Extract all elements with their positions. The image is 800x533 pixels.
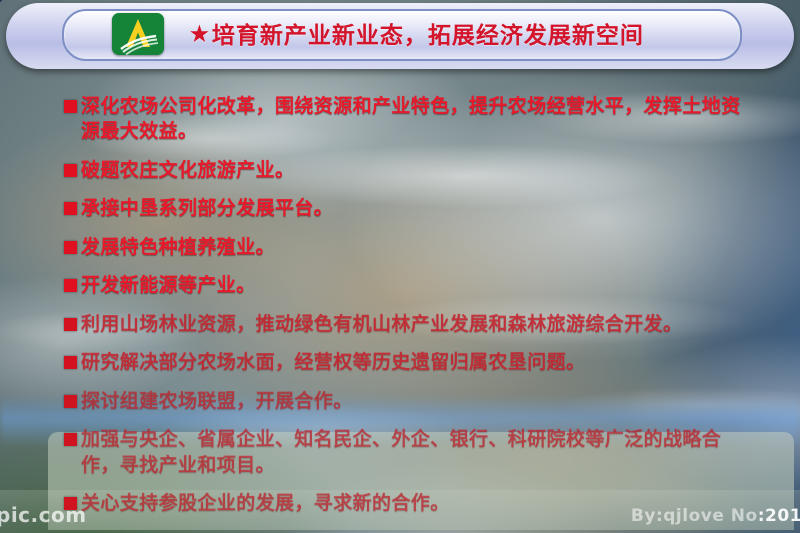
star-icon: ★ [190, 21, 210, 46]
slide-title-text: 培育新产业新业态，拓展经济发展新空间 [212, 16, 644, 50]
bullet-marker-icon [64, 279, 77, 292]
bullet-marker-icon [64, 241, 77, 254]
bullet-text: 深化农场公司化改革，围绕资源和产业特色，提升农场经营水平，发挥土地资源最大效益。 [81, 94, 754, 145]
bullet-text: 加强与央企、省属企业、知名民企、外企、银行、科研院校等广泛的战略合作，寻找产业和… [81, 427, 754, 478]
bullet-marker-icon [64, 318, 77, 331]
bullet-marker-icon [64, 433, 77, 446]
list-item: 关心支持参股企业的发展，寻求新的合作。 [64, 491, 754, 516]
bullet-text: 破题农庄文化旅游产业。 [81, 158, 294, 183]
bullet-text: 利用山场林业资源，推动绿色有机山林产业发展和森林旅游综合开发。 [81, 312, 682, 337]
list-item: 利用山场林业资源，推动绿色有机山林产业发展和森林旅游综合开发。 [64, 312, 754, 337]
bullet-text: 探讨组建农场联盟，开展合作。 [81, 389, 353, 414]
bullet-text: 关心支持参股企业的发展，寻求新的合作。 [81, 491, 450, 516]
bullet-marker-icon [64, 202, 77, 215]
bullet-text: 开发新能源等产业。 [81, 273, 256, 298]
list-item: 开发新能源等产业。 [64, 273, 754, 298]
bullet-text: 研究解决部分农场水面，经营权等历史遗留归属农垦问题。 [81, 350, 585, 375]
list-item: 破题农庄文化旅游产业。 [64, 158, 754, 183]
list-item: 发展特色种植养殖业。 [64, 235, 754, 260]
list-item: 研究解决部分农场水面，经营权等历史遗留归属农垦问题。 [64, 350, 754, 375]
bullet-text: 发展特色种植养殖业。 [81, 235, 275, 260]
slide-title: ★培育新产业新业态，拓展经济发展新空间 [190, 0, 644, 66]
bullet-list: 深化农场公司化改革，围绕资源和产业特色，提升农场经营水平，发挥土地资源最大效益。… [64, 94, 754, 529]
bullet-marker-icon [64, 497, 77, 510]
list-item: 加强与央企、省属企业、知名民企、外企、银行、科研院校等广泛的战略合作，寻找产业和… [64, 427, 754, 478]
bullet-marker-icon [64, 356, 77, 369]
bullet-marker-icon [64, 395, 77, 408]
list-item: 探讨组建农场联盟，开展合作。 [64, 389, 754, 414]
bullet-text: 承接中垦系列部分发展平台。 [81, 196, 333, 221]
list-item: 承接中垦系列部分发展平台。 [64, 196, 754, 221]
agriculture-company-logo [112, 13, 164, 55]
bullet-marker-icon [64, 164, 77, 177]
presentation-slide: ★培育新产业新业态，拓展经济发展新空间 深化农场公司化改革，围绕资源和产业特色，… [0, 0, 800, 533]
bullet-marker-icon [64, 100, 77, 113]
list-item: 深化农场公司化改革，围绕资源和产业特色，提升农场经营水平，发挥土地资源最大效益。 [64, 94, 754, 145]
